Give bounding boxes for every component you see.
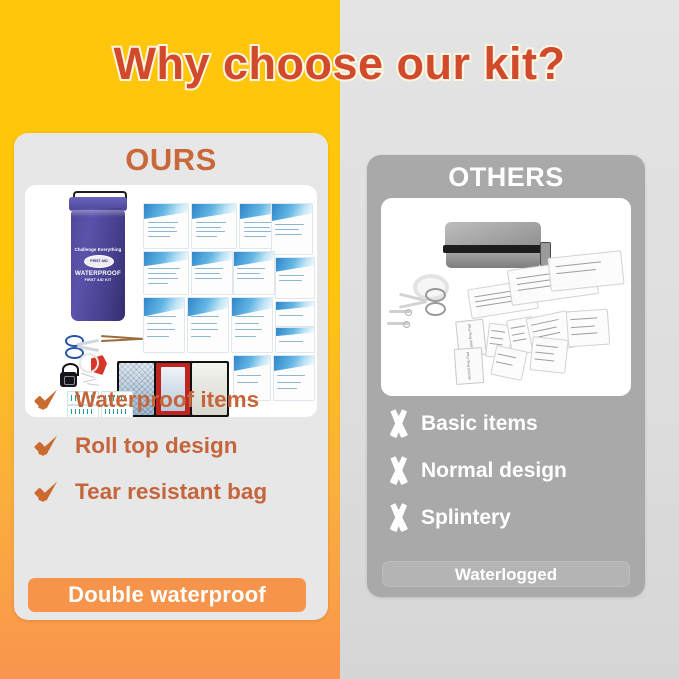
feature-row: Roll top design [32, 431, 346, 461]
bag-logo-oval: FIRST AID [84, 255, 114, 268]
check-icon [32, 385, 68, 415]
instruction-leaflet [529, 336, 568, 374]
others-product-photo: Alcohol Prep Pad Alcohol Prep Pad [381, 198, 631, 396]
feature-row: Waterproof items [32, 385, 346, 415]
pouch-zipper [443, 245, 543, 253]
ours-heading: OURS [14, 133, 328, 178]
ours-product-photo: Challenge Everything FIRST AID WATERPROO… [25, 185, 317, 417]
feature-label: Splintery [421, 506, 511, 530]
feature-row: Tear resistant bag [32, 477, 346, 507]
supply-packet [187, 297, 229, 353]
cross-icon [383, 410, 415, 438]
page-title: Why choose our kit? [0, 38, 679, 90]
others-feature-list: Basic items Normal design Splintery [367, 410, 661, 551]
feature-label: Roll top design [75, 433, 238, 459]
supply-packet [143, 203, 189, 249]
comparison-infographic: Why choose our kit? OURS Challenge Every… [0, 0, 679, 679]
check-icon [32, 477, 68, 507]
others-highlight-pill: Waterlogged [382, 561, 630, 587]
feature-row: Basic items [383, 410, 661, 438]
feature-label: Tear resistant bag [75, 479, 267, 505]
prep-pad-label: Alcohol Prep Pad [466, 352, 472, 380]
feature-row: Normal design [383, 457, 661, 485]
others-heading: OTHERS [367, 155, 645, 193]
gray-zippered-pouch [443, 222, 545, 268]
feature-label: Basic items [421, 412, 538, 436]
ours-card: OURS Challenge Everything FIRST AID WATE… [14, 133, 328, 620]
instruction-leaflet [490, 345, 528, 381]
supply-packet [143, 297, 185, 353]
supply-packet [275, 257, 315, 299]
others-card: OTHERS [367, 155, 645, 597]
bag-kit-label: FIRST AID KIT [71, 278, 125, 282]
check-icon [32, 431, 68, 461]
supply-packet [191, 203, 237, 249]
ours-highlight-pill: Double waterproof [28, 578, 306, 612]
gauze-bag [547, 250, 624, 292]
carabiner-icon [60, 363, 77, 387]
bag-logo-text: FIRST AID [85, 256, 113, 267]
feature-row: Splintery [383, 504, 661, 532]
ours-feature-list: Waterproof items Roll top design Tear re… [14, 385, 346, 523]
cross-icon [383, 504, 415, 532]
supply-packet [275, 327, 315, 353]
bag-waterproof-label: WATERPROOF [71, 270, 125, 277]
supply-packet [275, 301, 315, 327]
others-photo-scene: Alcohol Prep Pad Alcohol Prep Pad [381, 198, 631, 396]
feature-label: Normal design [421, 459, 567, 483]
alcohol-prep-pad: Alcohol Prep Pad [454, 347, 484, 385]
feature-label: Waterproof items [75, 387, 259, 413]
safety-pin-icon [389, 310, 411, 313]
bag-brand-tagline: Challenge Everything [71, 247, 125, 252]
supply-packet [271, 203, 313, 255]
supply-packet [143, 251, 189, 295]
pouch-base [446, 251, 540, 268]
ours-photo-scene: Challenge Everything FIRST AID WATERPROO… [25, 185, 317, 417]
cross-icon [383, 457, 415, 485]
supply-packet [233, 251, 275, 295]
safety-pin-icon [387, 322, 409, 325]
supply-packet [191, 251, 233, 295]
instruction-leaflet [566, 309, 610, 348]
cord-loop-icon [79, 353, 99, 373]
bag-fold-highlight [71, 210, 125, 217]
tweezers-icon [101, 333, 143, 345]
supply-packet [231, 297, 273, 353]
